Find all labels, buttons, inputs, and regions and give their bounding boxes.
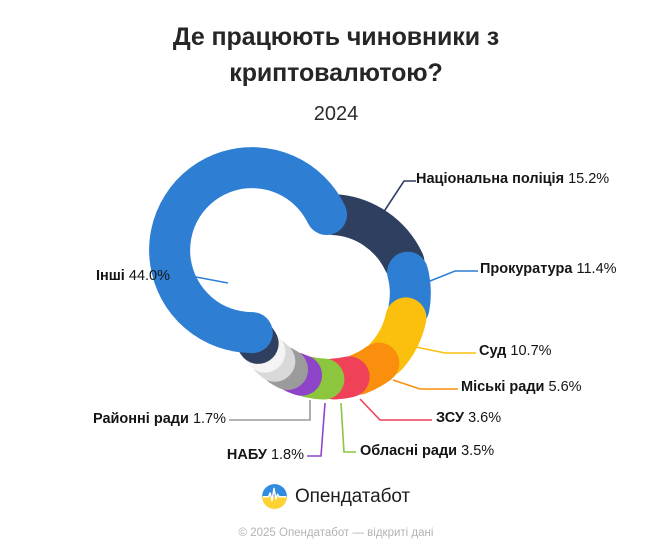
label-obl-council: Обласні ради 3.5% [360,444,494,459]
label-city-council: Міські ради 5.6% [461,380,582,395]
slice-others [170,168,327,333]
label-prosecutor: Прокуратура 11.4% [480,262,617,277]
label-prosecutor-name: Прокуратура [480,261,572,277]
label-others-pct: 44.0% [129,268,170,284]
label-court-name: Суд [479,343,506,359]
opendatabot-flag-pulse-icon [262,484,287,509]
label-armed-forces-name: ЗСУ [436,410,464,426]
label-court: Суд 10.7% [479,344,552,359]
label-others: Інші 44.0% [96,269,170,284]
label-nat-police-pct: 15.2% [568,171,609,187]
leader-line-prosecutor [425,271,478,283]
label-armed-forces-pct: 3.6% [468,410,501,426]
label-rai-council: Районні ради 1.7% [93,412,226,427]
label-others-name: Інші [96,268,125,284]
label-obl-council-name: Обласні ради [360,443,457,459]
leader-line-city-council [393,380,458,389]
leader-line-nat-police [381,181,416,216]
label-nabu: НАБУ 1.8% [227,448,304,463]
leader-line-rai-council [229,400,310,420]
brand-name: Опендатабот [295,486,410,508]
donut-chart: Національна поліція 15.2% Прокуратура 11… [0,0,672,560]
label-court-pct: 10.7% [510,343,551,359]
donut-slices [170,168,411,379]
label-rai-council-name: Районні ради [93,411,189,427]
label-nabu-pct: 1.8% [271,447,304,463]
label-nat-police-name: Національна поліція [416,171,564,187]
label-city-council-pct: 5.6% [548,379,581,395]
label-prosecutor-pct: 11.4% [576,261,616,277]
leader-line-obl-council [341,403,356,452]
label-rai-council-pct: 1.7% [193,411,226,427]
label-armed-forces: ЗСУ 3.6% [436,411,501,426]
label-city-council-name: Міські ради [461,379,544,395]
label-nabu-name: НАБУ [227,447,267,463]
brand-lockup: Опендатабот [0,484,672,509]
opendatabot-logo-svg [262,484,287,509]
leader-line-armed-forces [360,399,432,420]
label-nat-police: Національна поліція 15.2% [416,172,609,187]
label-obl-council-pct: 3.5% [461,443,494,459]
chart-page: Де працюють чиновники з криптовалютою? 2… [0,0,672,560]
leader-line-court [416,347,476,353]
copyright-footnote: © 2025 Опендатабот — відкриті дані [0,527,672,539]
